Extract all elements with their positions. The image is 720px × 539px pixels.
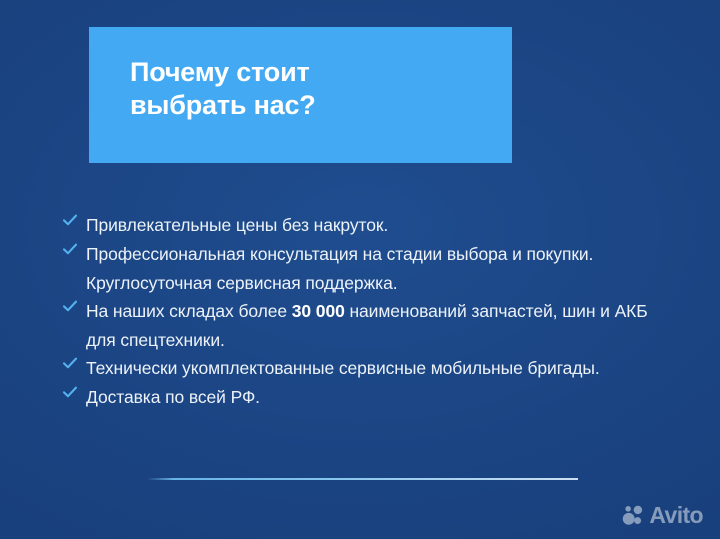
list-item: Привлекательные цены без накруток. [62, 211, 662, 240]
list-item-label: На наших складах более 30 000 наименован… [86, 297, 656, 354]
list-item: Технически укомплектованные сервисные мо… [62, 354, 662, 383]
check-icon [62, 241, 86, 269]
list-item-label: Привлекательные цены без накруток. [86, 211, 388, 240]
title-banner: Почему стоит выбрать нас? [89, 27, 512, 163]
horizontal-divider [148, 478, 578, 480]
slide-canvas: Почему стоит выбрать нас? Привлекательны… [0, 0, 720, 539]
list-item: На наших складах более 30 000 наименован… [62, 297, 662, 354]
list-item-label: Профессиональная консультация на стадии … [86, 240, 656, 297]
avito-dots-logo-icon [622, 504, 645, 527]
check-icon [62, 355, 86, 383]
check-icon [62, 384, 86, 412]
check-icon [62, 298, 86, 326]
list-item: Профессиональная консультация на стадии … [62, 240, 662, 297]
benefits-list: Привлекательные цены без накруток.Профес… [62, 211, 662, 412]
list-item: Доставка по всей РФ. [62, 383, 662, 412]
page-title: Почему стоит выбрать нас? [130, 56, 492, 122]
list-item-label: Технически укомплектованные сервисные мо… [86, 354, 600, 383]
avito-wordmark: Avito [649, 504, 703, 527]
avito-watermark: Avito [622, 504, 703, 527]
list-item-label: Доставка по всей РФ. [86, 383, 260, 412]
check-icon [62, 212, 86, 240]
